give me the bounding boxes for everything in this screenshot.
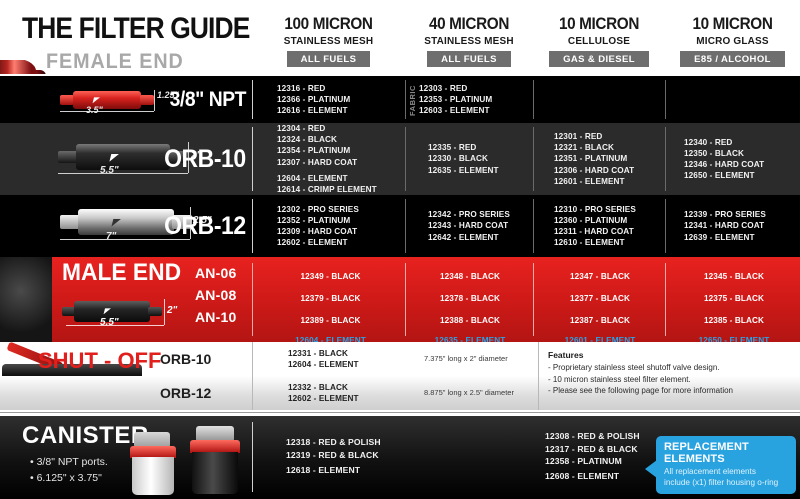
- part-number: 12302 - PRO SERIES: [277, 204, 407, 215]
- part-number: 12335 - RED: [428, 142, 538, 153]
- product-thumb-male: ◤ 5.5" 2": [62, 295, 182, 331]
- canister-photo-black: [186, 426, 250, 498]
- column-divider: [538, 342, 539, 376]
- column-media: MICRO GLASS: [668, 35, 796, 47]
- part-number-element: 12604 - ELEMENT: [288, 359, 428, 370]
- part-number: 12351 - PLATINUM: [554, 153, 669, 164]
- part-number-element: 12650 - ELEMENT: [684, 170, 799, 181]
- part-cell-0-1: 12303 - RED 12353 - PLATINUM 12603 - ELE…: [419, 76, 534, 123]
- dimension-length: 5.5": [100, 317, 119, 328]
- column-micron: 100 MICRON: [260, 14, 398, 34]
- dimension-length: 7": [106, 231, 116, 242]
- shutoff-size-label: ORB-10: [160, 351, 211, 367]
- part-number: 12348 - BLACK: [440, 266, 500, 288]
- part-number-element: 12618 - ELEMENT: [286, 462, 436, 479]
- part-cell-male-3: 12345 - BLACK 12375 - BLACK 12385 - BLAC…: [668, 257, 800, 342]
- column-header-2: 10 MICRON CELLULOSE GAS & DIESEL: [533, 14, 665, 67]
- feature-item: - Proprietary stainless steel shutoff va…: [548, 362, 798, 374]
- column-divider: [252, 80, 253, 119]
- part-number: 12324 - BLACK: [277, 134, 402, 145]
- column-divider: [405, 80, 406, 119]
- part-number: 12332 - BLACK: [288, 382, 428, 393]
- features-block: Features - Proprietary stainless steel s…: [548, 350, 798, 397]
- column-divider: [252, 342, 253, 376]
- row-label: ORB-10: [164, 145, 246, 174]
- callout-line-2: include (x1) filter housing o-ring: [664, 478, 788, 489]
- filter-guide-sheet: THE FILTER GUIDE FEMALE END 100 MICRON S…: [0, 0, 800, 499]
- part-number: 12349 - BLACK: [301, 266, 361, 288]
- shutoff-dimensions: 8.875" long x 2.5" diameter: [424, 388, 514, 397]
- part-number: 12316 - RED: [277, 83, 402, 94]
- part-cell-shutoff-0: 12331 - BLACK 12604 - ELEMENT: [288, 342, 428, 376]
- features-title: Features: [548, 350, 798, 360]
- column-divider: [252, 263, 253, 336]
- part-number: 12339 - PRO SERIES: [684, 209, 800, 220]
- callout-line-1: All replacement elements: [664, 467, 788, 478]
- header-rule: [0, 74, 800, 76]
- dimension-length: 5.5": [100, 165, 119, 176]
- column-divider: [665, 263, 666, 336]
- part-number: 12360 - PLATINUM: [554, 215, 674, 226]
- part-cell-2-3: 12339 - PRO SERIES 12341 - HARD COAT 126…: [684, 195, 800, 257]
- part-number-element: 12601 - ELEMENT: [554, 176, 669, 187]
- part-cell-male-2: 12347 - BLACK 12377 - BLACK 12387 - BLAC…: [536, 257, 664, 342]
- column-media: CELLULOSE: [536, 35, 661, 47]
- page-title: THE FILTER GUIDE: [22, 12, 249, 46]
- column-header-0: 100 MICRON STAINLESS MESH ALL FUELS: [252, 14, 405, 67]
- part-number: 12307 - HARD COAT: [277, 157, 402, 168]
- part-number-element: 12602 - ELEMENT: [288, 393, 428, 404]
- part-number: 12346 - HARD COAT: [684, 159, 799, 170]
- part-number: 12387 - BLACK: [570, 310, 630, 332]
- column-micron: 10 MICRON: [672, 14, 794, 34]
- part-number: 12343 - HARD COAT: [428, 220, 543, 231]
- part-cell-male-1: 12348 - BLACK 12378 - BLACK 12388 - BLAC…: [408, 257, 532, 342]
- male-end-section: MALE END ◤ 5.5" 2" AN-06 AN-08 AN-10 123…: [0, 257, 800, 342]
- an-size-label: AN-06: [195, 265, 236, 281]
- column-divider: [665, 199, 666, 253]
- row-label-cell: ◤ 3.5" 1.25" 3/8" NPT: [52, 76, 252, 123]
- part-number: 12342 - PRO SERIES: [428, 209, 543, 220]
- canister-section: CANISTER • 3/8" NPT ports. • 6.125" x 3.…: [0, 416, 800, 499]
- part-number: 12330 - BLACK: [428, 153, 538, 164]
- shutoff-title: SHUT - OFF: [38, 348, 161, 374]
- part-number: 12366 - PLATINUM: [277, 94, 402, 105]
- column-divider: [252, 422, 253, 492]
- part-cell-shutoff-1: 12332 - BLACK 12602 - ELEMENT: [288, 376, 428, 410]
- row-label: ORB-12: [164, 212, 246, 241]
- callout-title: REPLACEMENT ELEMENTS: [664, 441, 788, 465]
- table-row: ◤ 5.5" 2" ORB-10 12304 - RED 12324 - BLA…: [0, 123, 800, 195]
- part-number: 12353 - PLATINUM: [419, 94, 534, 105]
- column-divider: [252, 199, 253, 253]
- column-divider: [533, 127, 534, 191]
- row-label: 3/8" NPT: [170, 88, 246, 112]
- column-divider: [533, 80, 534, 119]
- part-number: 12375 - BLACK: [704, 288, 764, 310]
- part-number: 12301 - RED: [554, 131, 669, 142]
- part-cell-1-3: 12340 - RED 12350 - BLACK 12346 - HARD C…: [684, 123, 799, 195]
- column-divider: [665, 80, 666, 119]
- part-number: 12350 - BLACK: [684, 148, 799, 159]
- column-header-3: 10 MICRON MICRO GLASS E85 / ALCOHOL: [665, 14, 800, 67]
- column-fuel-badge: GAS & DIESEL: [549, 51, 649, 67]
- part-cell-1-0: 12304 - RED 12324 - BLACK 12354 - PLATIN…: [277, 123, 402, 195]
- column-media: STAINLESS MESH: [256, 35, 401, 47]
- table-row: ◤ 7" 2.5" ORB-12 12302 - PRO SERIES 1235…: [0, 195, 800, 257]
- part-number-element: 12604 - ELEMENT: [277, 173, 402, 184]
- column-divider: [252, 127, 253, 191]
- column-divider: [252, 376, 253, 410]
- part-number-element: 12603 - ELEMENT: [419, 105, 534, 116]
- an-size-label: AN-10: [195, 309, 236, 325]
- part-cell-0-0: 12316 - RED 12366 - PLATINUM 12616 - ELE…: [277, 76, 402, 123]
- part-number: 12304 - RED: [277, 123, 402, 134]
- part-number: 12389 - BLACK: [301, 310, 361, 332]
- canister-bullet: • 3/8" NPT ports.: [30, 456, 108, 468]
- column-media: STAINLESS MESH: [408, 35, 530, 47]
- part-number: 12341 - HARD COAT: [684, 220, 800, 231]
- part-number: 12345 - BLACK: [704, 266, 764, 288]
- part-number: 12378 - BLACK: [440, 288, 500, 310]
- canister-bullet: • 6.125" x 3.75": [30, 472, 102, 484]
- section-divider: [0, 412, 800, 413]
- replacement-elements-callout: REPLACEMENT ELEMENTS All replacement ele…: [656, 436, 796, 494]
- shutoff-size-label: ORB-12: [160, 385, 211, 401]
- row-label-cell: ◤ 5.5" 2" ORB-10: [52, 123, 252, 195]
- part-cell-canister-left: 12318 - RED & POLISH 12319 - RED & BLACK…: [286, 416, 436, 499]
- part-number-element: 12614 - CRIMP ELEMENT: [277, 184, 402, 195]
- dimension-diameter: 2": [167, 305, 177, 316]
- female-end-subtitle: FEMALE END: [46, 50, 184, 74]
- column-fuel-badge: ALL FUELS: [287, 51, 371, 67]
- fabric-tag: FABRIC: [408, 84, 417, 116]
- column-micron: 10 MICRON: [540, 14, 659, 34]
- column-divider: [405, 127, 406, 191]
- canister-photo-white: [126, 432, 188, 496]
- part-cell-1-1: 12335 - RED 12330 - BLACK 12635 - ELEMEN…: [428, 123, 538, 195]
- part-cell-1-2: 12301 - RED 12321 - BLACK 12351 - PLATIN…: [554, 123, 669, 195]
- feature-item: - 10 micron stainless steel filter eleme…: [548, 374, 798, 386]
- part-number-element: 12610 - ELEMENT: [554, 237, 674, 248]
- part-number-element: 12616 - ELEMENT: [277, 105, 402, 116]
- part-number-element: 12635 - ELEMENT: [428, 165, 538, 176]
- column-header-1: 40 MICRON STAINLESS MESH ALL FUELS: [405, 14, 533, 67]
- table-row: ◤ 3.5" 1.25" 3/8" NPT FABRIC 12316 - RED…: [0, 76, 800, 123]
- row-label-cell: ◤ 7" 2.5" ORB-12: [52, 195, 252, 257]
- part-number: 12347 - BLACK: [570, 266, 630, 288]
- part-number: 12321 - BLACK: [554, 142, 669, 153]
- column-divider: [665, 127, 666, 191]
- part-number: 12340 - RED: [684, 137, 799, 148]
- part-cell-2-1: 12342 - PRO SERIES 12343 - HARD COAT 126…: [428, 195, 543, 257]
- part-number-element: 12602 - ELEMENT: [277, 237, 407, 248]
- column-micron: 40 MICRON: [411, 14, 526, 34]
- column-divider: [533, 263, 534, 336]
- part-number: 12354 - PLATINUM: [277, 145, 402, 156]
- part-number: 12303 - RED: [419, 83, 534, 94]
- column-fuel-badge: ALL FUELS: [427, 51, 511, 67]
- product-thumb-npt: ◤ 3.5" 1.25": [60, 88, 180, 112]
- part-cell-male-0: 12349 - BLACK 12379 - BLACK 12389 - BLAC…: [258, 257, 403, 342]
- part-number-element: 12639 - ELEMENT: [684, 232, 800, 243]
- part-number: 12331 - BLACK: [288, 348, 428, 359]
- feature-item: - Please see the following page for more…: [548, 385, 798, 397]
- column-divider: [405, 263, 406, 336]
- part-cell-2-2: 12310 - PRO SERIES 12360 - PLATINUM 1231…: [554, 195, 674, 257]
- part-number: 12379 - BLACK: [301, 288, 361, 310]
- shutoff-dimensions: 7.375" long x 2" diameter: [424, 354, 508, 363]
- part-number: 12377 - BLACK: [570, 288, 630, 310]
- dimension-length: 3.5": [86, 105, 103, 115]
- part-number: 12311 - HARD COAT: [554, 226, 674, 237]
- an-size-label: AN-08: [195, 287, 236, 303]
- part-number: 12306 - HARD COAT: [554, 165, 669, 176]
- column-divider: [405, 199, 406, 253]
- column-divider: [533, 199, 534, 253]
- filter-table: ◤ 3.5" 1.25" 3/8" NPT FABRIC 12316 - RED…: [0, 76, 800, 499]
- part-number-element: 12642 - ELEMENT: [428, 232, 543, 243]
- part-number: 12352 - PLATINUM: [277, 215, 407, 226]
- column-fuel-badge: E85 / ALCOHOL: [680, 51, 785, 67]
- part-cell-2-0: 12302 - PRO SERIES 12352 - PLATINUM 1230…: [277, 195, 407, 257]
- male-end-title: MALE END: [62, 259, 181, 287]
- part-number: 12388 - BLACK: [440, 310, 500, 332]
- part-number: 12318 - RED & POLISH: [286, 436, 436, 449]
- part-number: 12310 - PRO SERIES: [554, 204, 674, 215]
- part-number: 12385 - BLACK: [704, 310, 764, 332]
- an-fitting-photo: [0, 257, 52, 342]
- part-number: 12309 - HARD COAT: [277, 226, 407, 237]
- part-number: 12319 - RED & BLACK: [286, 449, 436, 462]
- column-divider: [538, 376, 539, 410]
